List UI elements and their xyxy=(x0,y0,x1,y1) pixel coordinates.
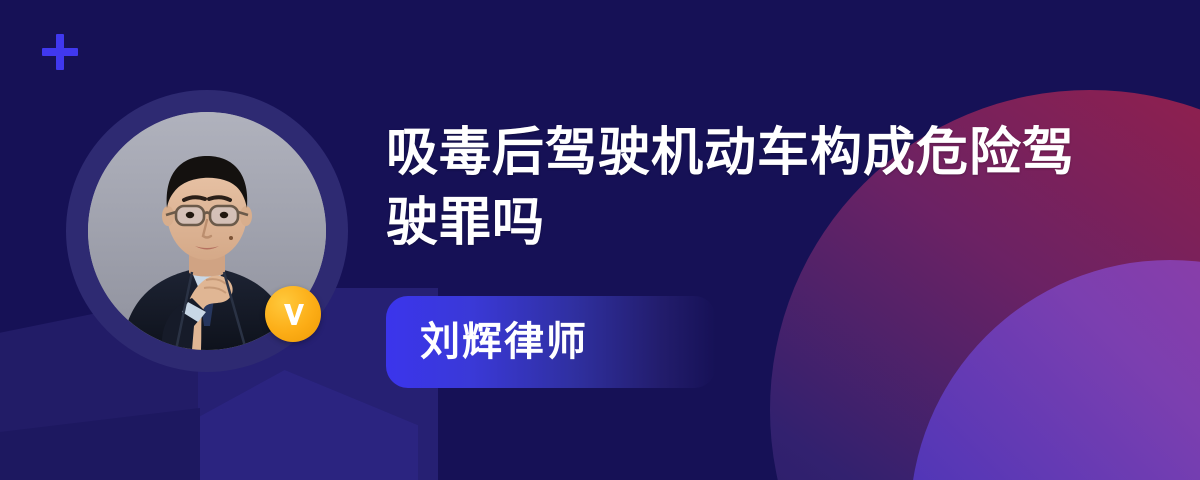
decorative-orb-purple xyxy=(910,260,1200,480)
decorative-polygon-bottom xyxy=(0,408,200,480)
avatar[interactable] xyxy=(66,90,348,372)
plus-icon-bar-vertical xyxy=(56,34,64,70)
decorative-polygon-arrow xyxy=(188,370,418,480)
verified-check-icon xyxy=(265,286,321,342)
page-title: 吸毒后驾驶机动车构成危险驾驶罪吗 xyxy=(386,118,1076,258)
lawyer-qa-banner: 吸毒后驾驶机动车构成危险驾驶罪吗 刘辉律师 xyxy=(0,0,1200,480)
headline-block: 吸毒后驾驶机动车构成危险驾驶罪吗 xyxy=(386,118,1126,258)
lawyer-name-button[interactable]: 刘辉律师 xyxy=(386,296,716,388)
plus-icon xyxy=(42,34,78,70)
lawyer-name-label: 刘辉律师 xyxy=(420,322,588,362)
